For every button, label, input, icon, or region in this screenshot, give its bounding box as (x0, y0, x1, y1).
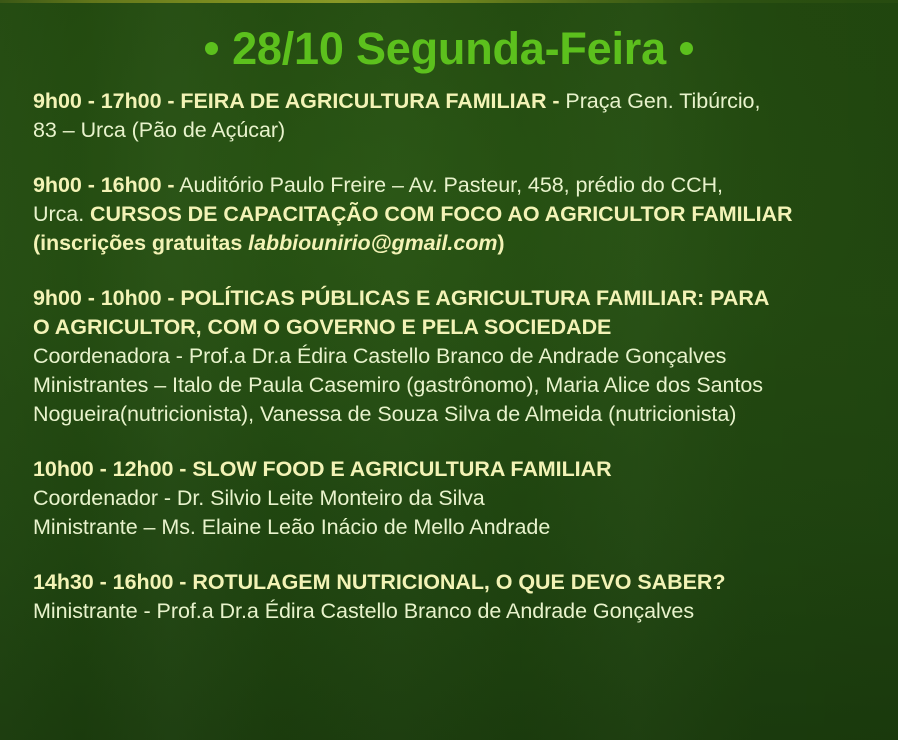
emphasis-text: (inscrições gratuitas (33, 231, 248, 255)
emphasis-text: ) (497, 231, 504, 255)
schedule-line: Urca. CURSOS DE CAPACITAÇÃO COM FOCO AO … (33, 200, 868, 229)
schedule-list: 9h00 - 17h00 - FEIRA DE AGRICULTURA FAMI… (0, 87, 898, 626)
schedule-line: Coordenador - Dr. Silvio Leite Monteiro … (33, 484, 868, 513)
emphasis-text: 14h30 - 16h00 - ROTULAGEM NUTRICIONAL, O… (33, 570, 725, 594)
poster-header: 28/10 Segunda-Feira (0, 0, 898, 71)
email-address[interactable]: labbiounirio@gmail.com (248, 231, 497, 255)
page-title: 28/10 Segunda-Feira (205, 26, 693, 71)
schedule-line: (inscrições gratuitas labbiounirio@gmail… (33, 229, 868, 258)
body-text: Ministrante - Prof.a Dr.a Édira Castello… (33, 599, 694, 623)
schedule-line: 10h00 - 12h00 - SLOW FOOD E AGRICULTURA … (33, 455, 868, 484)
emphasis-text: CURSOS DE CAPACITAÇÃO COM FOCO AO AGRICU… (90, 202, 792, 226)
body-text: Coordenadora - Prof.a Dr.a Édira Castell… (33, 344, 726, 368)
emphasis-text: 9h00 - 16h00 - (33, 173, 175, 197)
page-title-text: 28/10 Segunda-Feira (232, 23, 666, 74)
body-text: Coordenador - Dr. Silvio Leite Monteiro … (33, 486, 485, 510)
body-text: 83 – Urca (Pão de Açúcar) (33, 118, 285, 142)
schedule-line: 9h00 - 10h00 - POLÍTICAS PÚBLICAS E AGRI… (33, 284, 868, 313)
emphasis-text: 9h00 - 17h00 - FEIRA DE AGRICULTURA FAMI… (33, 89, 559, 113)
emphasis-text: 9h00 - 10h00 - POLÍTICAS PÚBLICAS E AGRI… (33, 286, 769, 310)
schedule-block-feira-agricultura-familiar: 9h00 - 17h00 - FEIRA DE AGRICULTURA FAMI… (33, 87, 868, 145)
emphasis-text: 10h00 - 12h00 - SLOW FOOD E AGRICULTURA … (33, 457, 612, 481)
body-text: Urca. (33, 202, 90, 226)
schedule-line: 9h00 - 16h00 - Auditório Paulo Freire – … (33, 171, 868, 200)
body-text: Ministrante – Ms. Elaine Leão Inácio de … (33, 515, 550, 539)
body-text: Nogueira(nutricionista), Vanessa de Souz… (33, 402, 736, 426)
body-text: Ministrantes – Italo de Paula Casemiro (… (33, 373, 763, 397)
body-text: Auditório Paulo Freire – Av. Pasteur, 45… (175, 173, 723, 197)
schedule-block-cursos-capacitacao: 9h00 - 16h00 - Auditório Paulo Freire – … (33, 171, 868, 258)
schedule-line: 9h00 - 17h00 - FEIRA DE AGRICULTURA FAMI… (33, 87, 868, 116)
emphasis-text: labbiounirio@gmail.com (248, 231, 497, 255)
bullet-dot-icon-right (680, 42, 693, 55)
event-schedule-poster: 28/10 Segunda-Feira 9h00 - 17h00 - FEIRA… (0, 0, 898, 740)
body-text: Praça Gen. Tibúrcio, (559, 89, 760, 113)
schedule-block-slow-food: 10h00 - 12h00 - SLOW FOOD E AGRICULTURA … (33, 455, 868, 542)
schedule-line: Ministrante – Ms. Elaine Leão Inácio de … (33, 513, 868, 542)
schedule-block-rotulagem-nutricional: 14h30 - 16h00 - ROTULAGEM NUTRICIONAL, O… (33, 568, 868, 626)
schedule-line: Nogueira(nutricionista), Vanessa de Souz… (33, 400, 868, 429)
schedule-line: Coordenadora - Prof.a Dr.a Édira Castell… (33, 342, 868, 371)
schedule-line: 83 – Urca (Pão de Açúcar) (33, 116, 868, 145)
schedule-line: 14h30 - 16h00 - ROTULAGEM NUTRICIONAL, O… (33, 568, 868, 597)
schedule-line: O AGRICULTOR, COM O GOVERNO E PELA SOCIE… (33, 313, 868, 342)
bullet-dot-icon-left (205, 42, 218, 55)
schedule-line: Ministrante - Prof.a Dr.a Édira Castello… (33, 597, 868, 626)
schedule-block-politicas-publicas: 9h00 - 10h00 - POLÍTICAS PÚBLICAS E AGRI… (33, 284, 868, 429)
schedule-line: Ministrantes – Italo de Paula Casemiro (… (33, 371, 868, 400)
emphasis-text: O AGRICULTOR, COM O GOVERNO E PELA SOCIE… (33, 315, 611, 339)
